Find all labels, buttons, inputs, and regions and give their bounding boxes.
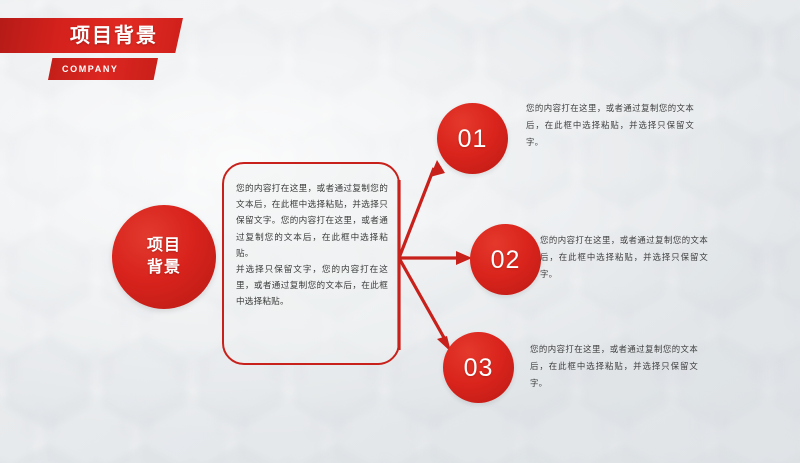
item-circle-01[interactable]: 01 <box>437 103 508 174</box>
item-text-03: 您的内容打在这里，或者通过复制您的文本后，在此框中选择粘贴，并选择只保留文字。 <box>530 341 698 392</box>
item-circle-03[interactable]: 03 <box>443 332 514 403</box>
item-number-03: 03 <box>464 354 494 382</box>
item-number-02: 02 <box>491 246 521 274</box>
main-topic-circle[interactable]: 项目 背景 <box>112 205 216 309</box>
item-text-01: 您的内容打在这里，或者通过复制您的文本后，在此框中选择粘贴，并选择只保留文字。 <box>526 100 694 151</box>
description-box-text: 您的内容打在这里，或者通过复制您的文本后，在此框中选择粘贴，并选择只保留文字。您… <box>236 180 388 310</box>
slide-canvas: 项目背景 COMPANY 项目 背景 您的内容打在这里，或者通过复制您的文本后，… <box>0 0 800 463</box>
subtitle-label: COMPANY <box>62 62 119 76</box>
item-circle-02[interactable]: 02 <box>470 224 541 295</box>
main-topic-label: 项目 背景 <box>147 235 181 279</box>
item-text-02: 您的内容打在这里，或者通过复制您的文本后，在此框中选择粘贴，并选择只保留文字。 <box>540 232 708 283</box>
item-number-01: 01 <box>458 125 488 153</box>
page-title: 项目背景 <box>70 22 158 50</box>
